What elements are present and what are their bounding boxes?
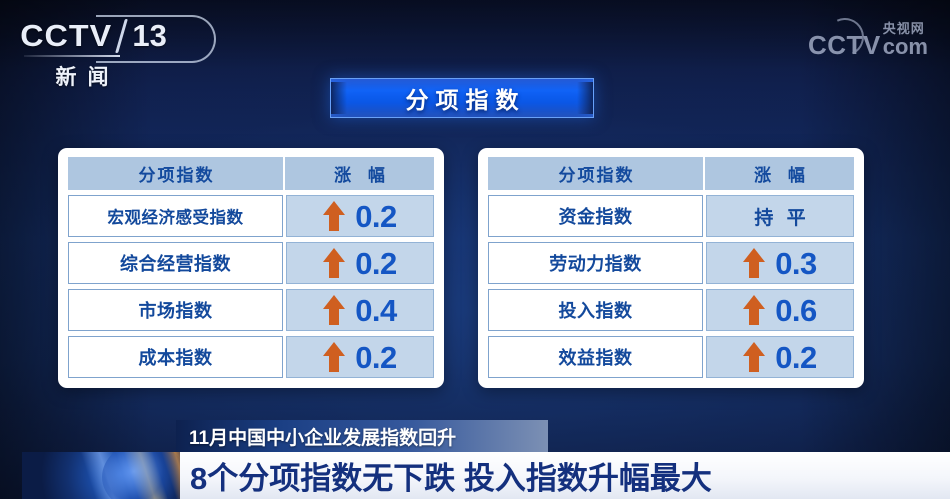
channel-name-label: 新闻 bbox=[22, 61, 142, 91]
row-name-cell: 效益指数 bbox=[488, 336, 703, 378]
row-name-cell: 劳动力指数 bbox=[488, 242, 703, 284]
row-value-label: 0.3 bbox=[775, 248, 817, 279]
up-arrow-icon bbox=[743, 342, 765, 372]
table-row: 资金指数 持 平 bbox=[488, 195, 854, 237]
row-name-cell: 投入指数 bbox=[488, 289, 703, 331]
row-value-cell: 0.2 bbox=[286, 336, 434, 378]
row-name-cell: 资金指数 bbox=[488, 195, 703, 237]
table-row: 效益指数 0.2 bbox=[488, 336, 854, 378]
logo-underline-icon bbox=[24, 55, 120, 57]
lower-third-kicker-bar: 11月中国中小企业发展指数回升 bbox=[176, 420, 548, 453]
up-arrow-icon bbox=[323, 201, 345, 231]
row-value-cell: 持 平 bbox=[706, 195, 854, 237]
row-name-label: 劳动力指数 bbox=[549, 250, 642, 276]
up-arrow-icon bbox=[323, 342, 345, 372]
up-arrow-icon bbox=[743, 295, 765, 325]
table-header-row: 分项指数 涨 幅 bbox=[68, 157, 434, 190]
channel-logo-row: CCTV 13 bbox=[22, 18, 167, 54]
up-arrow-icon bbox=[323, 295, 345, 325]
header-cell-value: 涨 幅 bbox=[283, 157, 434, 190]
header-cell-value: 涨 幅 bbox=[703, 157, 854, 190]
table-row: 成本指数 0.2 bbox=[68, 336, 434, 378]
row-name-label: 综合经营指数 bbox=[120, 250, 231, 276]
row-name-label: 市场指数 bbox=[139, 297, 213, 323]
row-value-cell: 0.2 bbox=[286, 242, 434, 284]
row-value-label: 0.2 bbox=[355, 248, 397, 279]
subindex-table-left: 分项指数 涨 幅 宏观经济感受指数 0.2 综合经营指数 0.2 bbox=[58, 148, 444, 388]
header-label-name: 分项指数 bbox=[557, 161, 635, 186]
watermark-com-text: com bbox=[883, 36, 928, 58]
table-header-row: 分项指数 涨 幅 bbox=[488, 157, 854, 190]
row-name-label: 投入指数 bbox=[559, 297, 633, 323]
header-cell-name: 分项指数 bbox=[68, 157, 283, 190]
table-row: 宏观经济感受指数 0.2 bbox=[68, 195, 434, 237]
row-value-cell: 0.6 bbox=[706, 289, 854, 331]
row-value-cell: 0.2 bbox=[286, 195, 434, 237]
row-name-label: 成本指数 bbox=[139, 344, 213, 370]
table-row: 投入指数 0.6 bbox=[488, 289, 854, 331]
row-value-label: 0.4 bbox=[355, 295, 397, 326]
header-label-name: 分项指数 bbox=[137, 161, 215, 186]
row-value-cell: 0.4 bbox=[286, 289, 434, 331]
header-label-value: 涨 幅 bbox=[748, 161, 811, 186]
row-value-cell: 0.3 bbox=[706, 242, 854, 284]
lower-third-headline-bar: 8个分项指数无下跌 投入指数升幅最大 bbox=[178, 452, 950, 499]
table-row: 劳动力指数 0.3 bbox=[488, 242, 854, 284]
lower-third-headline: 8个分项指数无下跌 投入指数升幅最大 bbox=[178, 453, 712, 498]
row-value-label: 0.2 bbox=[775, 342, 817, 373]
header-cell-name: 分项指数 bbox=[488, 157, 703, 190]
row-value-label: 0.6 bbox=[775, 295, 817, 326]
lower-third-kicker: 11月中国中小企业发展指数回升 bbox=[176, 423, 456, 450]
row-name-label: 资金指数 bbox=[559, 203, 633, 229]
header-label-value: 涨 幅 bbox=[328, 161, 391, 186]
table-row: 市场指数 0.4 bbox=[68, 289, 434, 331]
row-name-label: 宏观经济感受指数 bbox=[108, 204, 244, 228]
row-value-label: 0.2 bbox=[355, 342, 397, 373]
broadcast-screen: CCTV 13 新闻 CCTV 央视网 com 分项指数 分项指数 涨 幅 bbox=[0, 0, 950, 499]
cctv-com-watermark: CCTV 央视网 com bbox=[808, 22, 928, 58]
row-value-label: 持 平 bbox=[750, 203, 809, 230]
row-value-label: 0.2 bbox=[355, 201, 397, 232]
up-arrow-icon bbox=[743, 248, 765, 278]
channel-logo: CCTV 13 新闻 bbox=[22, 18, 167, 91]
title-banner: 分项指数 bbox=[330, 78, 594, 118]
up-arrow-icon bbox=[323, 248, 345, 278]
subindex-table-right: 分项指数 涨 幅 资金指数 持 平 劳动力指数 0.3 bbox=[478, 148, 864, 388]
row-value-cell: 0.2 bbox=[706, 336, 854, 378]
row-name-cell: 宏观经济感受指数 bbox=[68, 195, 283, 237]
table-row: 综合经营指数 0.2 bbox=[68, 242, 434, 284]
row-name-cell: 市场指数 bbox=[68, 289, 283, 331]
row-name-cell: 综合经营指数 bbox=[68, 242, 283, 284]
watermark-right-block: 央视网 com bbox=[883, 22, 928, 58]
row-name-cell: 成本指数 bbox=[68, 336, 283, 378]
row-name-label: 效益指数 bbox=[559, 344, 633, 370]
globe-graphic bbox=[22, 452, 180, 499]
page-title: 分项指数 bbox=[399, 81, 526, 115]
